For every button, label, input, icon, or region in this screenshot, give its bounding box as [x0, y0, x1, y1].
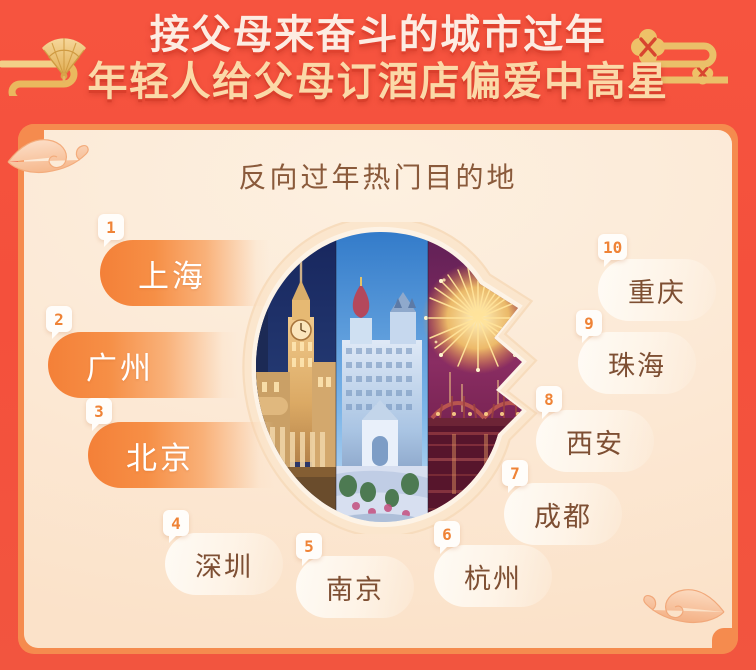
rank-item-1[interactable]: 上海	[100, 240, 270, 306]
rank-item-2[interactable]: 广州	[48, 332, 238, 398]
rank-badge-2: 2	[46, 306, 72, 332]
rank-item-5[interactable]: 南京	[296, 556, 414, 618]
rank-item-3-label: 北京	[126, 433, 194, 478]
rank-badge-4: 4	[163, 510, 189, 536]
rank-item-5-label: 南京	[326, 568, 384, 607]
title-line-2: 年轻人给父母订酒店偏爱中高星	[0, 61, 756, 103]
page-subtitle: 反向过年热门目的地	[0, 156, 756, 196]
rank-badge-1: 1	[98, 214, 124, 240]
rank-item-6[interactable]: 杭州	[434, 545, 552, 607]
rank-badge-3: 3	[86, 398, 112, 424]
rank-badge-7: 7	[502, 460, 528, 486]
rank-item-10[interactable]: 重庆	[598, 259, 716, 321]
rank-item-3[interactable]: 北京	[88, 422, 274, 488]
rank-item-7[interactable]: 成都	[504, 483, 622, 545]
rank-item-10-label: 重庆	[628, 271, 686, 310]
rank-badge-5: 5	[296, 533, 322, 559]
rank-item-2-label: 广州	[86, 343, 154, 388]
rank-item-9-label: 珠海	[608, 344, 666, 383]
rank-item-4-label: 深圳	[195, 545, 253, 584]
rank-badge-9: 9	[576, 310, 602, 336]
header-banner: 接父母来奋斗的城市过年 年轻人给父母订酒店偏爱中高星	[0, 0, 756, 128]
cloud-icon-bottom-right	[640, 578, 726, 632]
infographic-root: 接父母来奋斗的城市过年 年轻人给父母订酒店偏爱中高星 反向过年热门目的地	[0, 0, 756, 670]
rank-badge-10: 10	[598, 234, 627, 260]
rank-item-9[interactable]: 珠海	[578, 332, 696, 394]
rank-item-8[interactable]: 西安	[536, 410, 654, 472]
rank-item-7-label: 成都	[534, 495, 592, 534]
rank-item-6-label: 杭州	[464, 557, 522, 596]
rank-item-8-label: 西安	[566, 422, 624, 461]
rank-item-4[interactable]: 深圳	[165, 533, 283, 595]
rank-badge-8: 8	[536, 386, 562, 412]
rank-item-1-label: 上海	[138, 251, 206, 296]
rank-badge-6: 6	[434, 521, 460, 547]
title-line-1: 接父母来奋斗的城市过年	[0, 14, 756, 56]
header-title: 接父母来奋斗的城市过年 年轻人给父母订酒店偏爱中高星	[0, 14, 756, 104]
